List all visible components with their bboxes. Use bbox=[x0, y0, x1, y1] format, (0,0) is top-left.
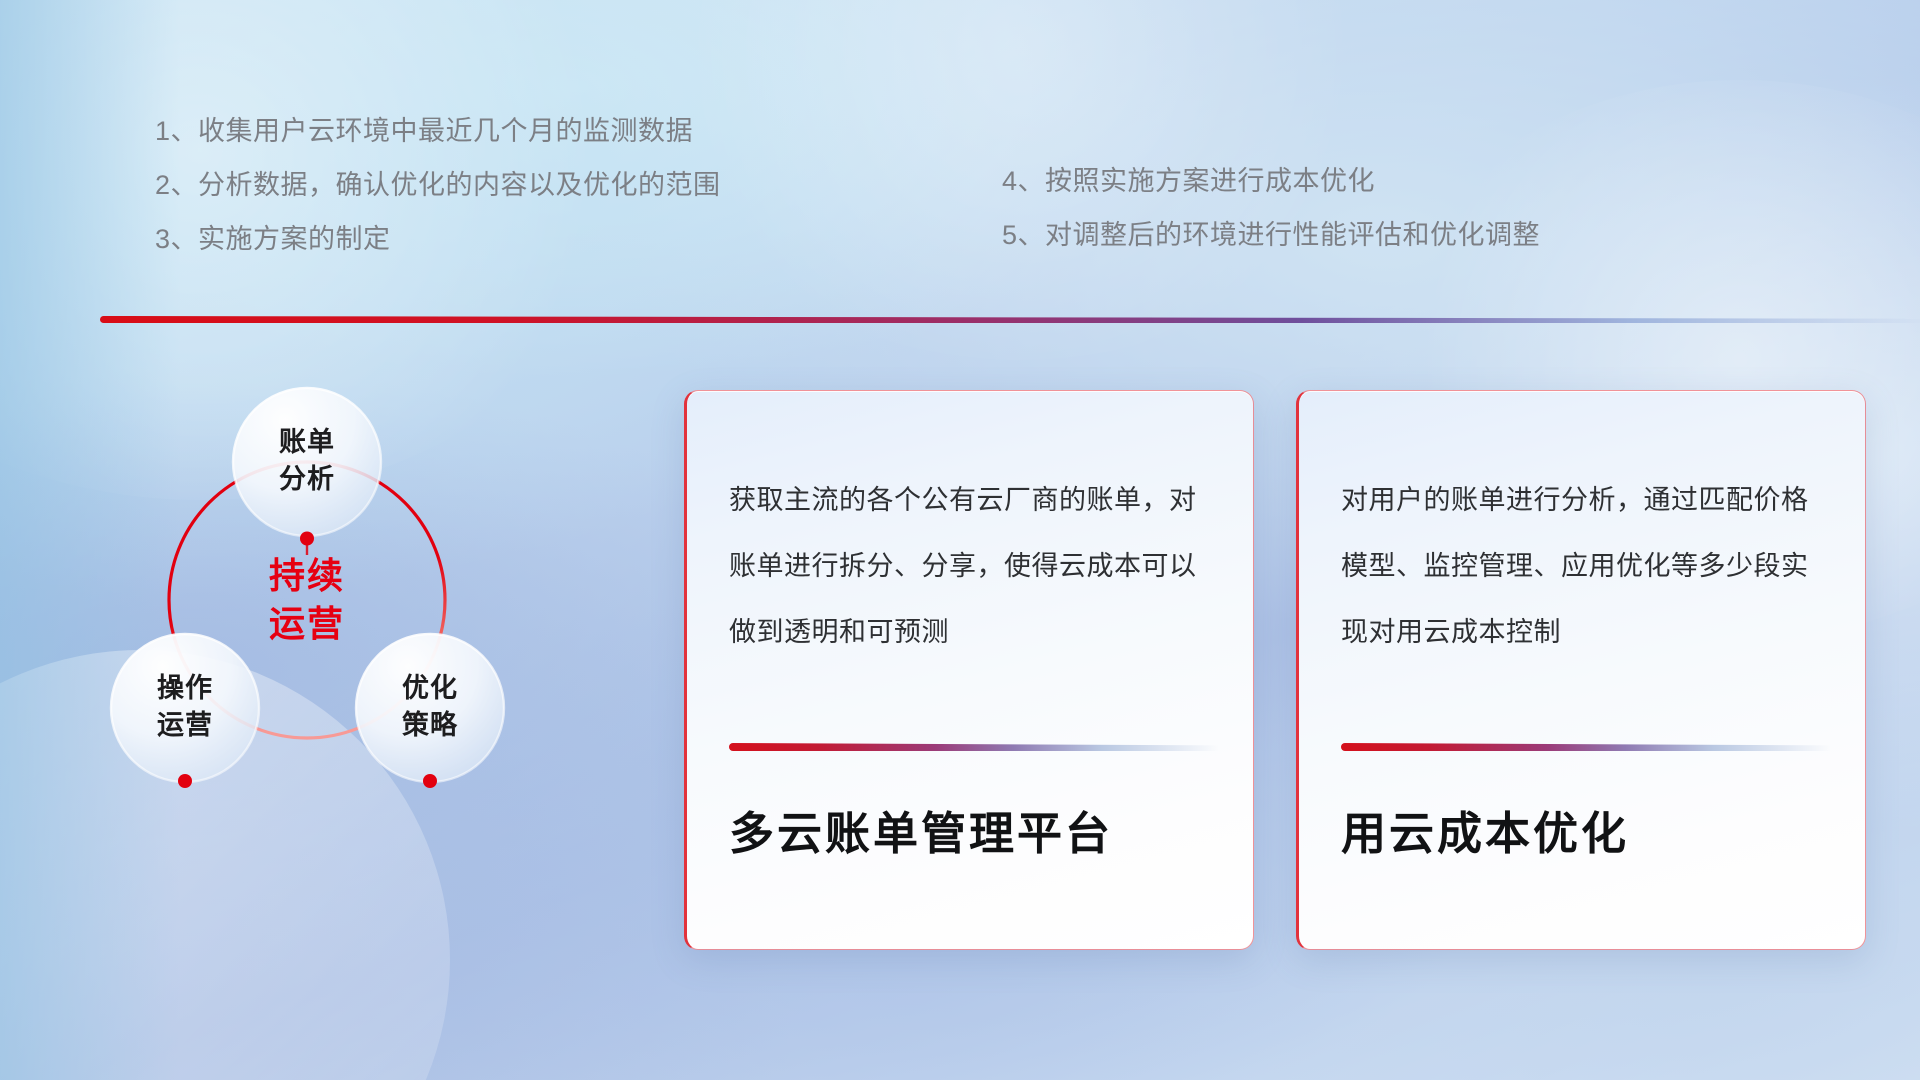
card-accent-rule bbox=[1341, 743, 1831, 751]
card-multi-cloud-billing-platform[interactable]: 获取主流的各个公有云厂商的账单，对账单进行拆分、分享，使得云成本可以做到透明和可… bbox=[684, 390, 1254, 950]
card-title: 用云成本优化 bbox=[1341, 797, 1841, 862]
card-cloud-cost-optimization[interactable]: 对用户的账单进行分析，通过匹配价格模型、监控管理、应用优化等多少段实现对用云成本… bbox=[1296, 390, 1866, 950]
card-title: 多云账单管理平台 bbox=[729, 797, 1229, 862]
feature-cards: 获取主流的各个公有云厂商的账单，对账单进行拆分、分享，使得云成本可以做到透明和可… bbox=[0, 0, 1920, 1080]
card-accent-rule bbox=[729, 743, 1219, 751]
card-body-text: 对用户的账单进行分析，通过匹配价格模型、监控管理、应用优化等多少段实现对用云成本… bbox=[1341, 467, 1831, 665]
card-body-text: 获取主流的各个公有云厂商的账单，对账单进行拆分、分享，使得云成本可以做到透明和可… bbox=[729, 467, 1219, 665]
